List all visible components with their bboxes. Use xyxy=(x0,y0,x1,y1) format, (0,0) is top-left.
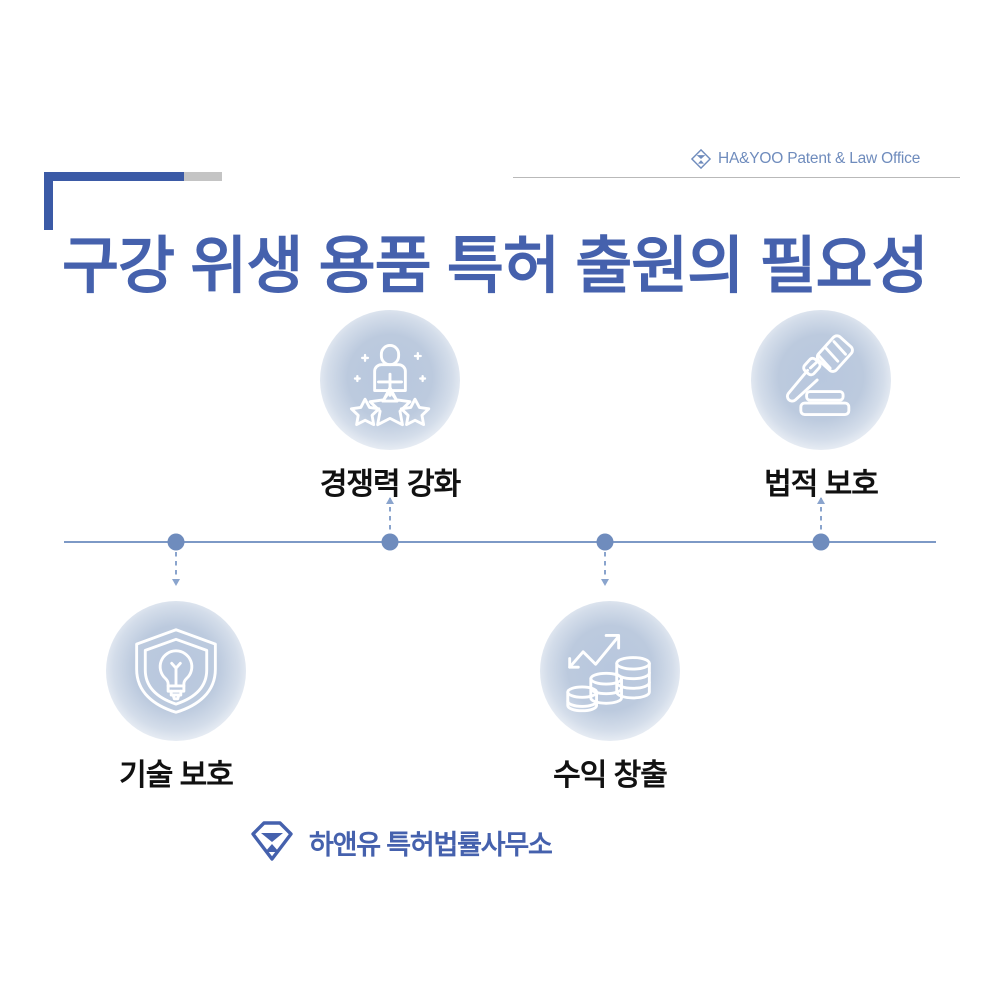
header-rule-thin xyxy=(513,177,960,179)
header-bracket-vertical xyxy=(44,172,53,230)
timeline-axis xyxy=(64,541,936,543)
timeline-dot-1 xyxy=(168,534,185,551)
icon-wrap xyxy=(101,596,251,746)
timeline-dot-4 xyxy=(813,534,830,551)
timeline-dot-2 xyxy=(382,534,399,551)
connector-down-1 xyxy=(175,552,177,585)
icon-wrap xyxy=(746,305,896,455)
hayoo-diamond-logo-icon xyxy=(690,148,712,170)
footer-logo: 하앤유 특허법률사무소 xyxy=(248,818,552,866)
brand-name: HA&YOO Patent & Law Office xyxy=(718,150,920,168)
node-legal-protection: 법적 보호 xyxy=(746,305,896,503)
arrowhead-down-icon xyxy=(601,579,609,586)
gavel-icon xyxy=(773,332,869,428)
shield-lightbulb-icon xyxy=(128,623,224,719)
arrowhead-down-icon xyxy=(172,579,180,586)
node-competitiveness: 경쟁력 강화 xyxy=(315,305,465,503)
page-title: 구강 위생 용품 특허 출원의 필요성 xyxy=(62,228,962,306)
header-rule-blue xyxy=(44,172,184,181)
node-tech-protection: 기술 보호 xyxy=(101,596,251,794)
footer-company-name: 하앤유 특허법률사무소 xyxy=(309,823,552,862)
coins-growth-arrow-icon xyxy=(562,623,658,719)
icon-wrap xyxy=(535,596,685,746)
node-label: 법적 보호 xyxy=(746,459,896,503)
hayoo-diamond-logo-icon xyxy=(248,818,296,866)
connector-down-3 xyxy=(604,552,606,585)
node-label: 경쟁력 강화 xyxy=(315,459,465,503)
slide-canvas: HA&YOO Patent & Law Office 구강 위생 용품 특허 출… xyxy=(0,0,1000,1000)
person-stars-icon xyxy=(342,332,438,428)
brand-row: HA&YOO Patent & Law Office xyxy=(690,148,920,170)
header-rule-gray xyxy=(180,172,222,181)
node-label: 수익 창출 xyxy=(535,750,685,794)
icon-wrap xyxy=(315,305,465,455)
timeline-dot-3 xyxy=(597,534,614,551)
node-label: 기술 보호 xyxy=(101,750,251,794)
node-revenue-generation: 수익 창출 xyxy=(535,596,685,794)
